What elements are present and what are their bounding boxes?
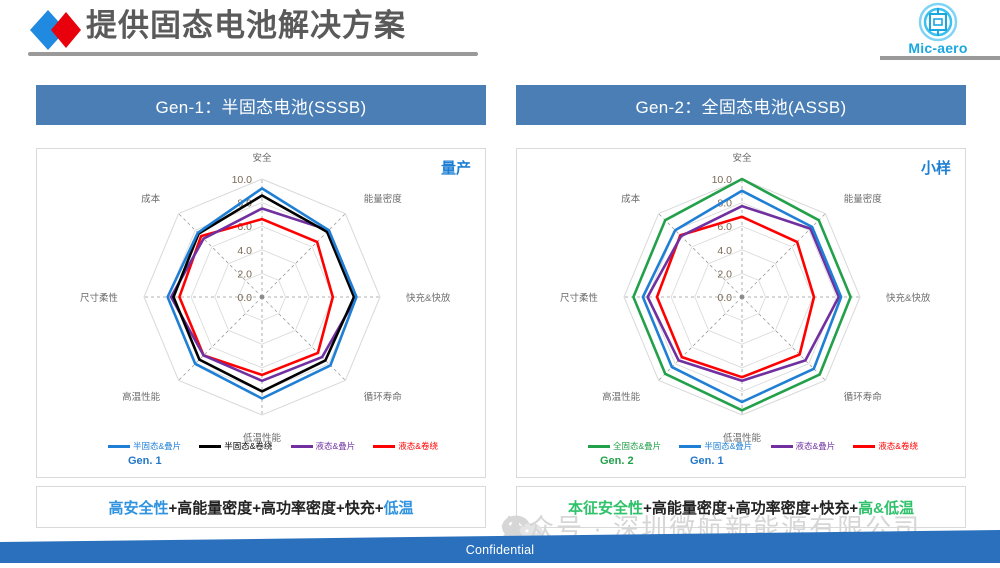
- radar-chart-gen2: 0.02.04.06.08.010.0安全能量密度快充&快放循环寿命低温性能高温…: [517, 149, 967, 479]
- legend-label: 半固态&叠片: [133, 440, 181, 452]
- svg-text:快充&快放: 快充&快放: [886, 292, 931, 304]
- svg-text:0.0: 0.0: [237, 292, 252, 304]
- svg-text:安全: 安全: [732, 152, 752, 164]
- summary-left-seg3: 低温: [384, 497, 414, 518]
- legend-item: 全固态&叠片: [588, 440, 661, 452]
- brand-logo: Mic-aero: [888, 2, 988, 58]
- gen-tag-right-1: Gen. 1: [690, 455, 724, 467]
- legend-swatch: [199, 445, 221, 448]
- legend-item: 液态&叠片: [291, 440, 356, 452]
- legend-item: 液态&叠片: [771, 440, 836, 452]
- legend-label: 液态&叠片: [316, 440, 356, 452]
- svg-text:尺寸柔性: 尺寸柔性: [80, 292, 119, 304]
- svg-text:4.0: 4.0: [717, 245, 732, 257]
- title-divider: [28, 52, 478, 56]
- svg-text:循环寿命: 循环寿命: [364, 391, 403, 403]
- svg-text:10.0: 10.0: [712, 174, 733, 186]
- svg-text:能量密度: 能量密度: [844, 193, 883, 205]
- svg-text:循环寿命: 循环寿命: [844, 391, 883, 403]
- legend-swatch: [853, 445, 875, 448]
- legend-label: 液态&卷绕: [398, 440, 438, 452]
- legend-item: 液态&卷绕: [373, 440, 438, 452]
- chart-card-gen2: 小样 0.02.04.06.08.010.0安全能量密度快充&快放循环寿命低温性…: [516, 148, 966, 478]
- legend-label: 全固态&叠片: [613, 440, 661, 452]
- panel-title-gen2: Gen-2：全固态电池(ASSB): [516, 85, 966, 125]
- svg-text:4.0: 4.0: [237, 245, 252, 257]
- legend-label: 半固态&叠片: [704, 440, 752, 452]
- svg-text:高温性能: 高温性能: [602, 391, 641, 403]
- brand-name: Mic-aero: [888, 40, 988, 56]
- brand-divider: [880, 56, 1000, 60]
- svg-text:快充&快放: 快充&快放: [406, 292, 451, 304]
- svg-text:安全: 安全: [252, 152, 272, 164]
- legend-item: 半固态&叠片: [108, 440, 181, 452]
- legend-swatch: [373, 445, 395, 448]
- legend-item: 半固态&卷绕: [199, 440, 272, 452]
- footer-label: Confidential: [0, 543, 1000, 557]
- legend-item: 液态&卷绕: [853, 440, 918, 452]
- summary-left-seg1: 高安全性: [108, 497, 168, 518]
- legend-swatch: [679, 445, 701, 448]
- legend-swatch: [588, 445, 610, 448]
- svg-text:能量密度: 能量密度: [364, 193, 403, 205]
- page-title: 提供固态电池解决方案: [86, 4, 406, 48]
- legend-label: 半固态&卷绕: [224, 440, 272, 452]
- summary-box-gen1: 高安全性+高能量密度+高功率密度+快充+低温: [36, 486, 486, 528]
- legend-swatch: [771, 445, 793, 448]
- summary-right-seg2: +高能量密度+高功率密度+快充+: [643, 497, 858, 518]
- svg-text:0.0: 0.0: [717, 292, 732, 304]
- legend-gen2: 全固态&叠片半固态&叠片液态&叠片液态&卷绕: [588, 440, 918, 452]
- diamond-logo-icon: [28, 8, 84, 52]
- gen-tag-left-1: Gen. 1: [128, 455, 162, 467]
- legend-label: 液态&卷绕: [878, 440, 918, 452]
- summary-box-gen2: 本征安全性+高能量密度+高功率密度+快充+高&低温: [516, 486, 966, 528]
- slide-header: 提供固态电池解决方案 Mic-aero: [0, 0, 1000, 62]
- legend-item: 半固态&叠片: [679, 440, 752, 452]
- radar-series-液态&叠片: [648, 206, 839, 381]
- svg-text:尺寸柔性: 尺寸柔性: [560, 292, 599, 304]
- summary-right-seg3: 高&低温: [858, 497, 914, 518]
- svg-text:高温性能: 高温性能: [122, 391, 161, 403]
- legend-swatch: [291, 445, 313, 448]
- legend-label: 液态&叠片: [796, 440, 836, 452]
- chart-card-gen1: 量产 0.02.04.06.08.010.0安全能量密度快充&快放循环寿命低温性…: [36, 148, 486, 478]
- svg-text:成本: 成本: [621, 193, 641, 205]
- gen-tag-right-2: Gen. 2: [600, 455, 634, 467]
- svg-text:2.0: 2.0: [237, 268, 252, 280]
- summary-left-seg2: +高能量密度+高功率密度+快充+: [168, 497, 383, 518]
- radar-chart-gen1: 0.02.04.06.08.010.0安全能量密度快充&快放循环寿命低温性能高温…: [37, 149, 487, 479]
- summary-right-seg1: 本征安全性: [568, 497, 643, 518]
- panel-title-gen1: Gen-1：半固态电池(SSSB): [36, 85, 486, 125]
- svg-text:2.0: 2.0: [717, 268, 732, 280]
- svg-text:10.0: 10.0: [232, 174, 253, 186]
- legend-swatch: [108, 445, 130, 448]
- legend-gen1: 半固态&叠片半固态&卷绕液态&叠片液态&卷绕: [108, 440, 438, 452]
- svg-text:成本: 成本: [141, 193, 161, 205]
